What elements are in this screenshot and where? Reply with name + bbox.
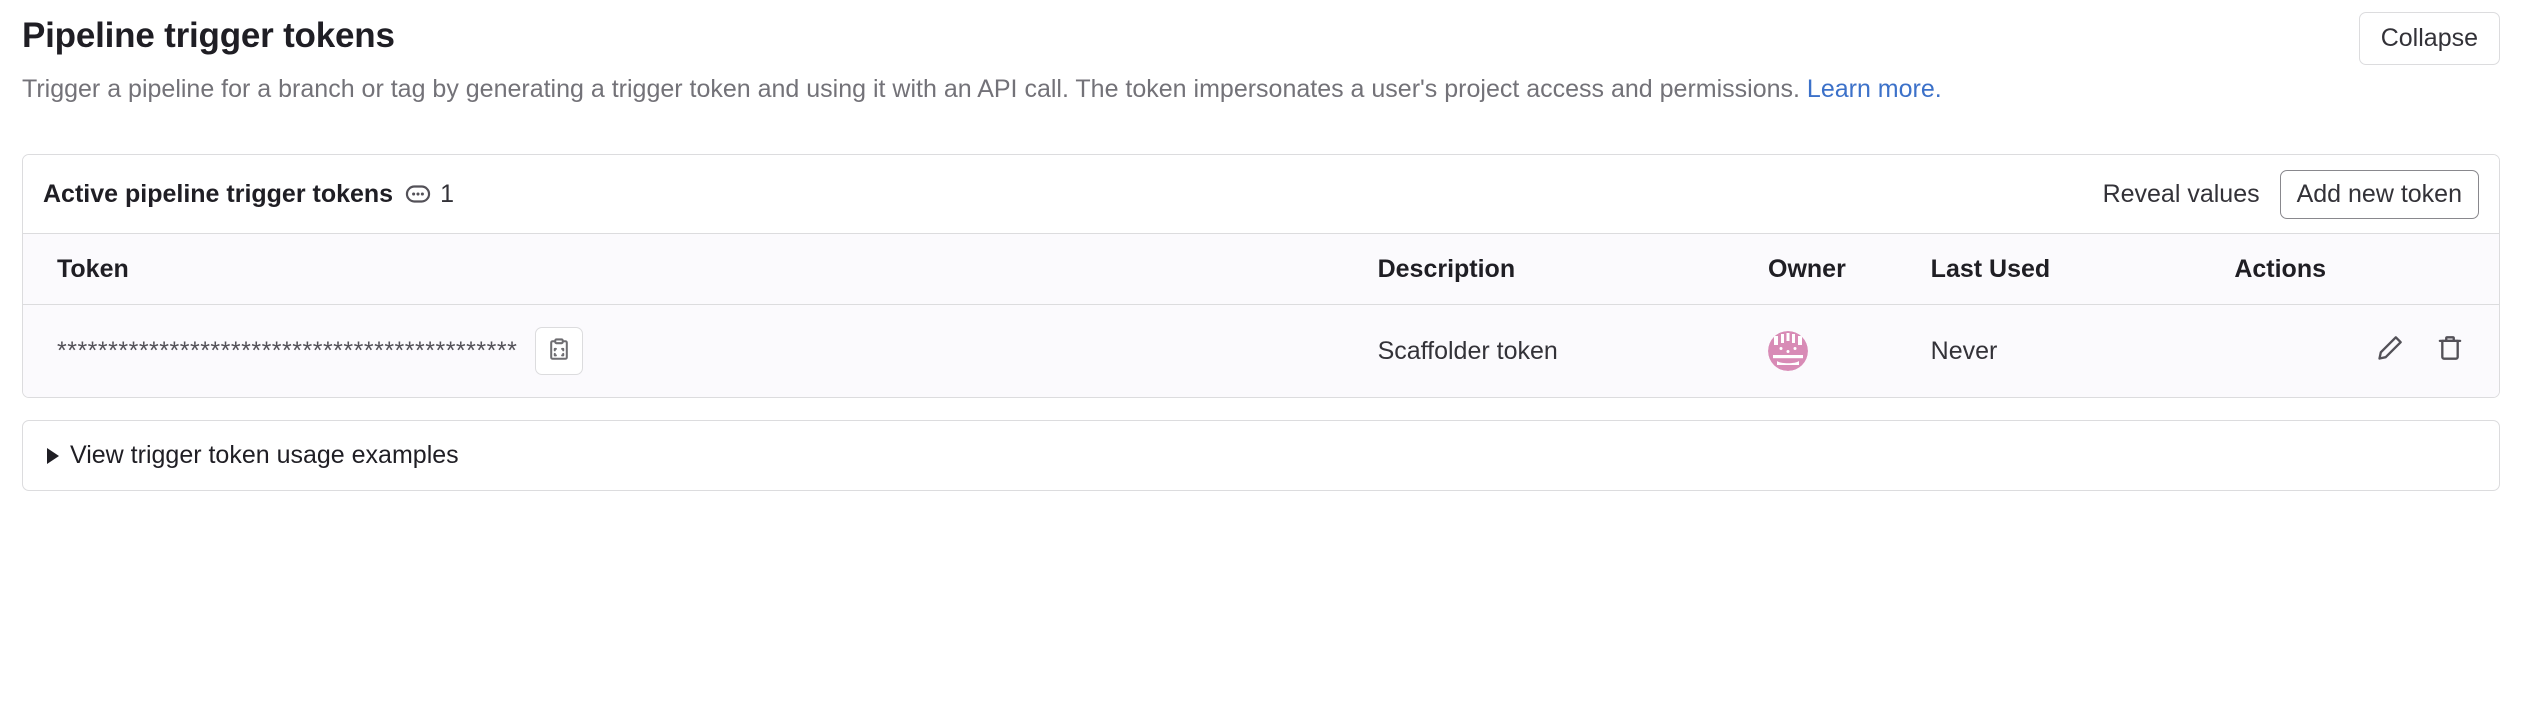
tokens-table: Token Description Owner Last Used Action… [23, 233, 2499, 397]
collapse-button[interactable]: Collapse [2359, 12, 2500, 65]
identicon-avatar[interactable] [1768, 331, 1808, 371]
tokens-table-head: Token Description Owner Last Used Action… [23, 234, 2499, 305]
usage-examples-label: View trigger token usage examples [70, 441, 459, 470]
page-title: Pipeline trigger tokens [22, 14, 2500, 58]
trash-icon [2435, 333, 2465, 366]
column-header-description: Description [1378, 234, 1768, 305]
masked-token-value: ****************************************… [57, 337, 517, 366]
pipeline-trigger-tokens-page: Pipeline trigger tokens Trigger a pipeli… [0, 0, 2522, 726]
column-header-token: Token [23, 234, 1378, 305]
table-header-row: Token Description Owner Last Used Action… [23, 234, 2499, 305]
column-header-last-used: Last Used [1931, 234, 2235, 305]
cell-token: ****************************************… [23, 305, 1378, 398]
table-row: ****************************************… [23, 305, 2499, 398]
usage-examples-summary[interactable]: View trigger token usage examples [47, 441, 2475, 470]
cell-actions [2234, 305, 2499, 398]
copy-token-button[interactable] [535, 327, 583, 375]
learn-more-link[interactable]: Learn more. [1807, 75, 1942, 103]
token-cell-content: ****************************************… [57, 327, 1378, 375]
chevron-right-icon [47, 448, 59, 464]
tokens-table-body: ****************************************… [23, 305, 2499, 398]
section-header: Pipeline trigger tokens Trigger a pipeli… [22, 0, 2500, 107]
clipboard-copy-icon [546, 337, 572, 366]
column-header-actions: Actions [2234, 234, 2499, 305]
reveal-values-button[interactable]: Reveal values [2103, 180, 2260, 209]
row-action-buttons [2375, 333, 2465, 366]
card-title: Active pipeline trigger tokens [43, 180, 393, 209]
cell-last-used: Never [1931, 305, 2235, 398]
card-header-actions: Reveal values Add new token [2103, 170, 2479, 219]
pencil-icon [2375, 333, 2405, 366]
add-new-token-button[interactable]: Add new token [2280, 170, 2479, 219]
card-header-left: Active pipeline trigger tokens 1 [43, 180, 454, 209]
usage-examples-section[interactable]: View trigger token usage examples [22, 420, 2500, 491]
page-description: Trigger a pipeline for a branch or tag b… [22, 72, 2272, 108]
card-header: Active pipeline trigger tokens 1 Reveal … [23, 155, 2499, 233]
delete-token-button[interactable] [2435, 333, 2465, 366]
cell-owner [1768, 305, 1931, 398]
edit-token-button[interactable] [2375, 333, 2405, 366]
token-count-value: 1 [440, 180, 454, 209]
active-tokens-card: Active pipeline trigger tokens 1 Reveal … [22, 154, 2500, 398]
token-count: 1 [405, 180, 454, 209]
page-description-text: Trigger a pipeline for a branch or tag b… [22, 75, 1807, 103]
cell-description: Scaffolder token [1378, 305, 1768, 398]
column-header-owner: Owner [1768, 234, 1931, 305]
comment-dots-icon [405, 181, 431, 207]
